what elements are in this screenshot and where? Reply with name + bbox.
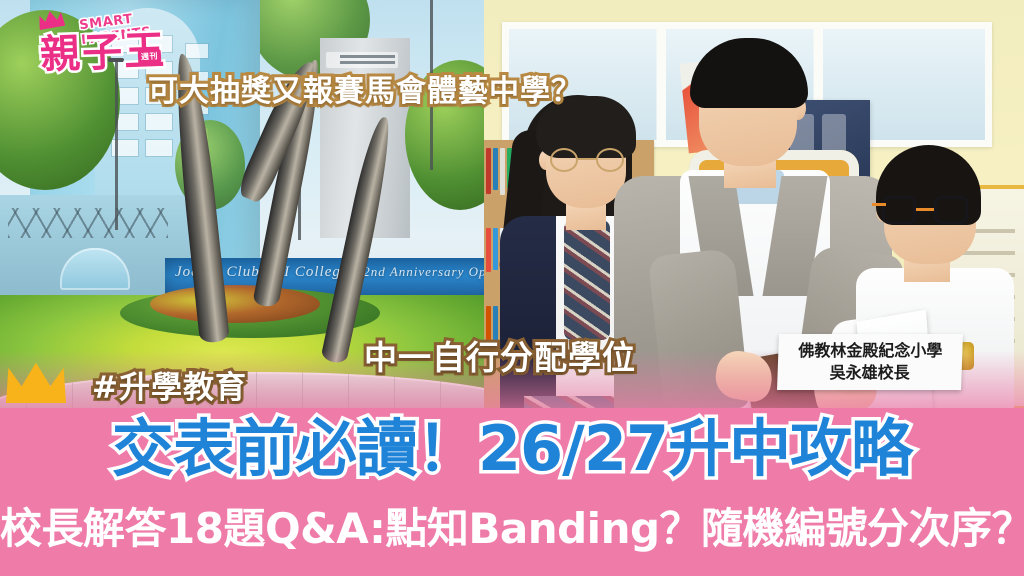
headline: 交表前必讀！26/27升中攻略: [0, 416, 1024, 482]
subheadline: 校長解答18題Q&A:點知Banding？隨機編號分次序？: [0, 505, 1024, 553]
glasses-icon: [882, 196, 968, 224]
window: [146, 114, 172, 130]
canopy-truss: [8, 208, 168, 238]
glasses-icon: [550, 148, 624, 172]
poster-root: Jockey Club Ti-I College 2nd Anniversary…: [0, 0, 1024, 576]
brand-sub-label: 週刊: [138, 49, 162, 63]
window: [146, 140, 172, 156]
mid-caption: 中一自行分配學位: [364, 331, 636, 379]
lamp-post: [115, 60, 118, 230]
brand-logo[interactable]: SMART PARENTS 親子王 週刊: [22, 4, 182, 66]
nameplate: 佛教林金殿紀念小學 吳永雄校長: [777, 334, 963, 390]
top-caption: 可大抽獎又報賽馬會體藝中學？: [148, 66, 582, 110]
hashtag-label[interactable]: #升學教育: [92, 362, 247, 407]
nameplate-person: 吳永雄校長: [830, 362, 910, 384]
tartan-tie: [564, 220, 610, 340]
nameplate-school: 佛教林金殿紀念小學: [798, 340, 942, 362]
